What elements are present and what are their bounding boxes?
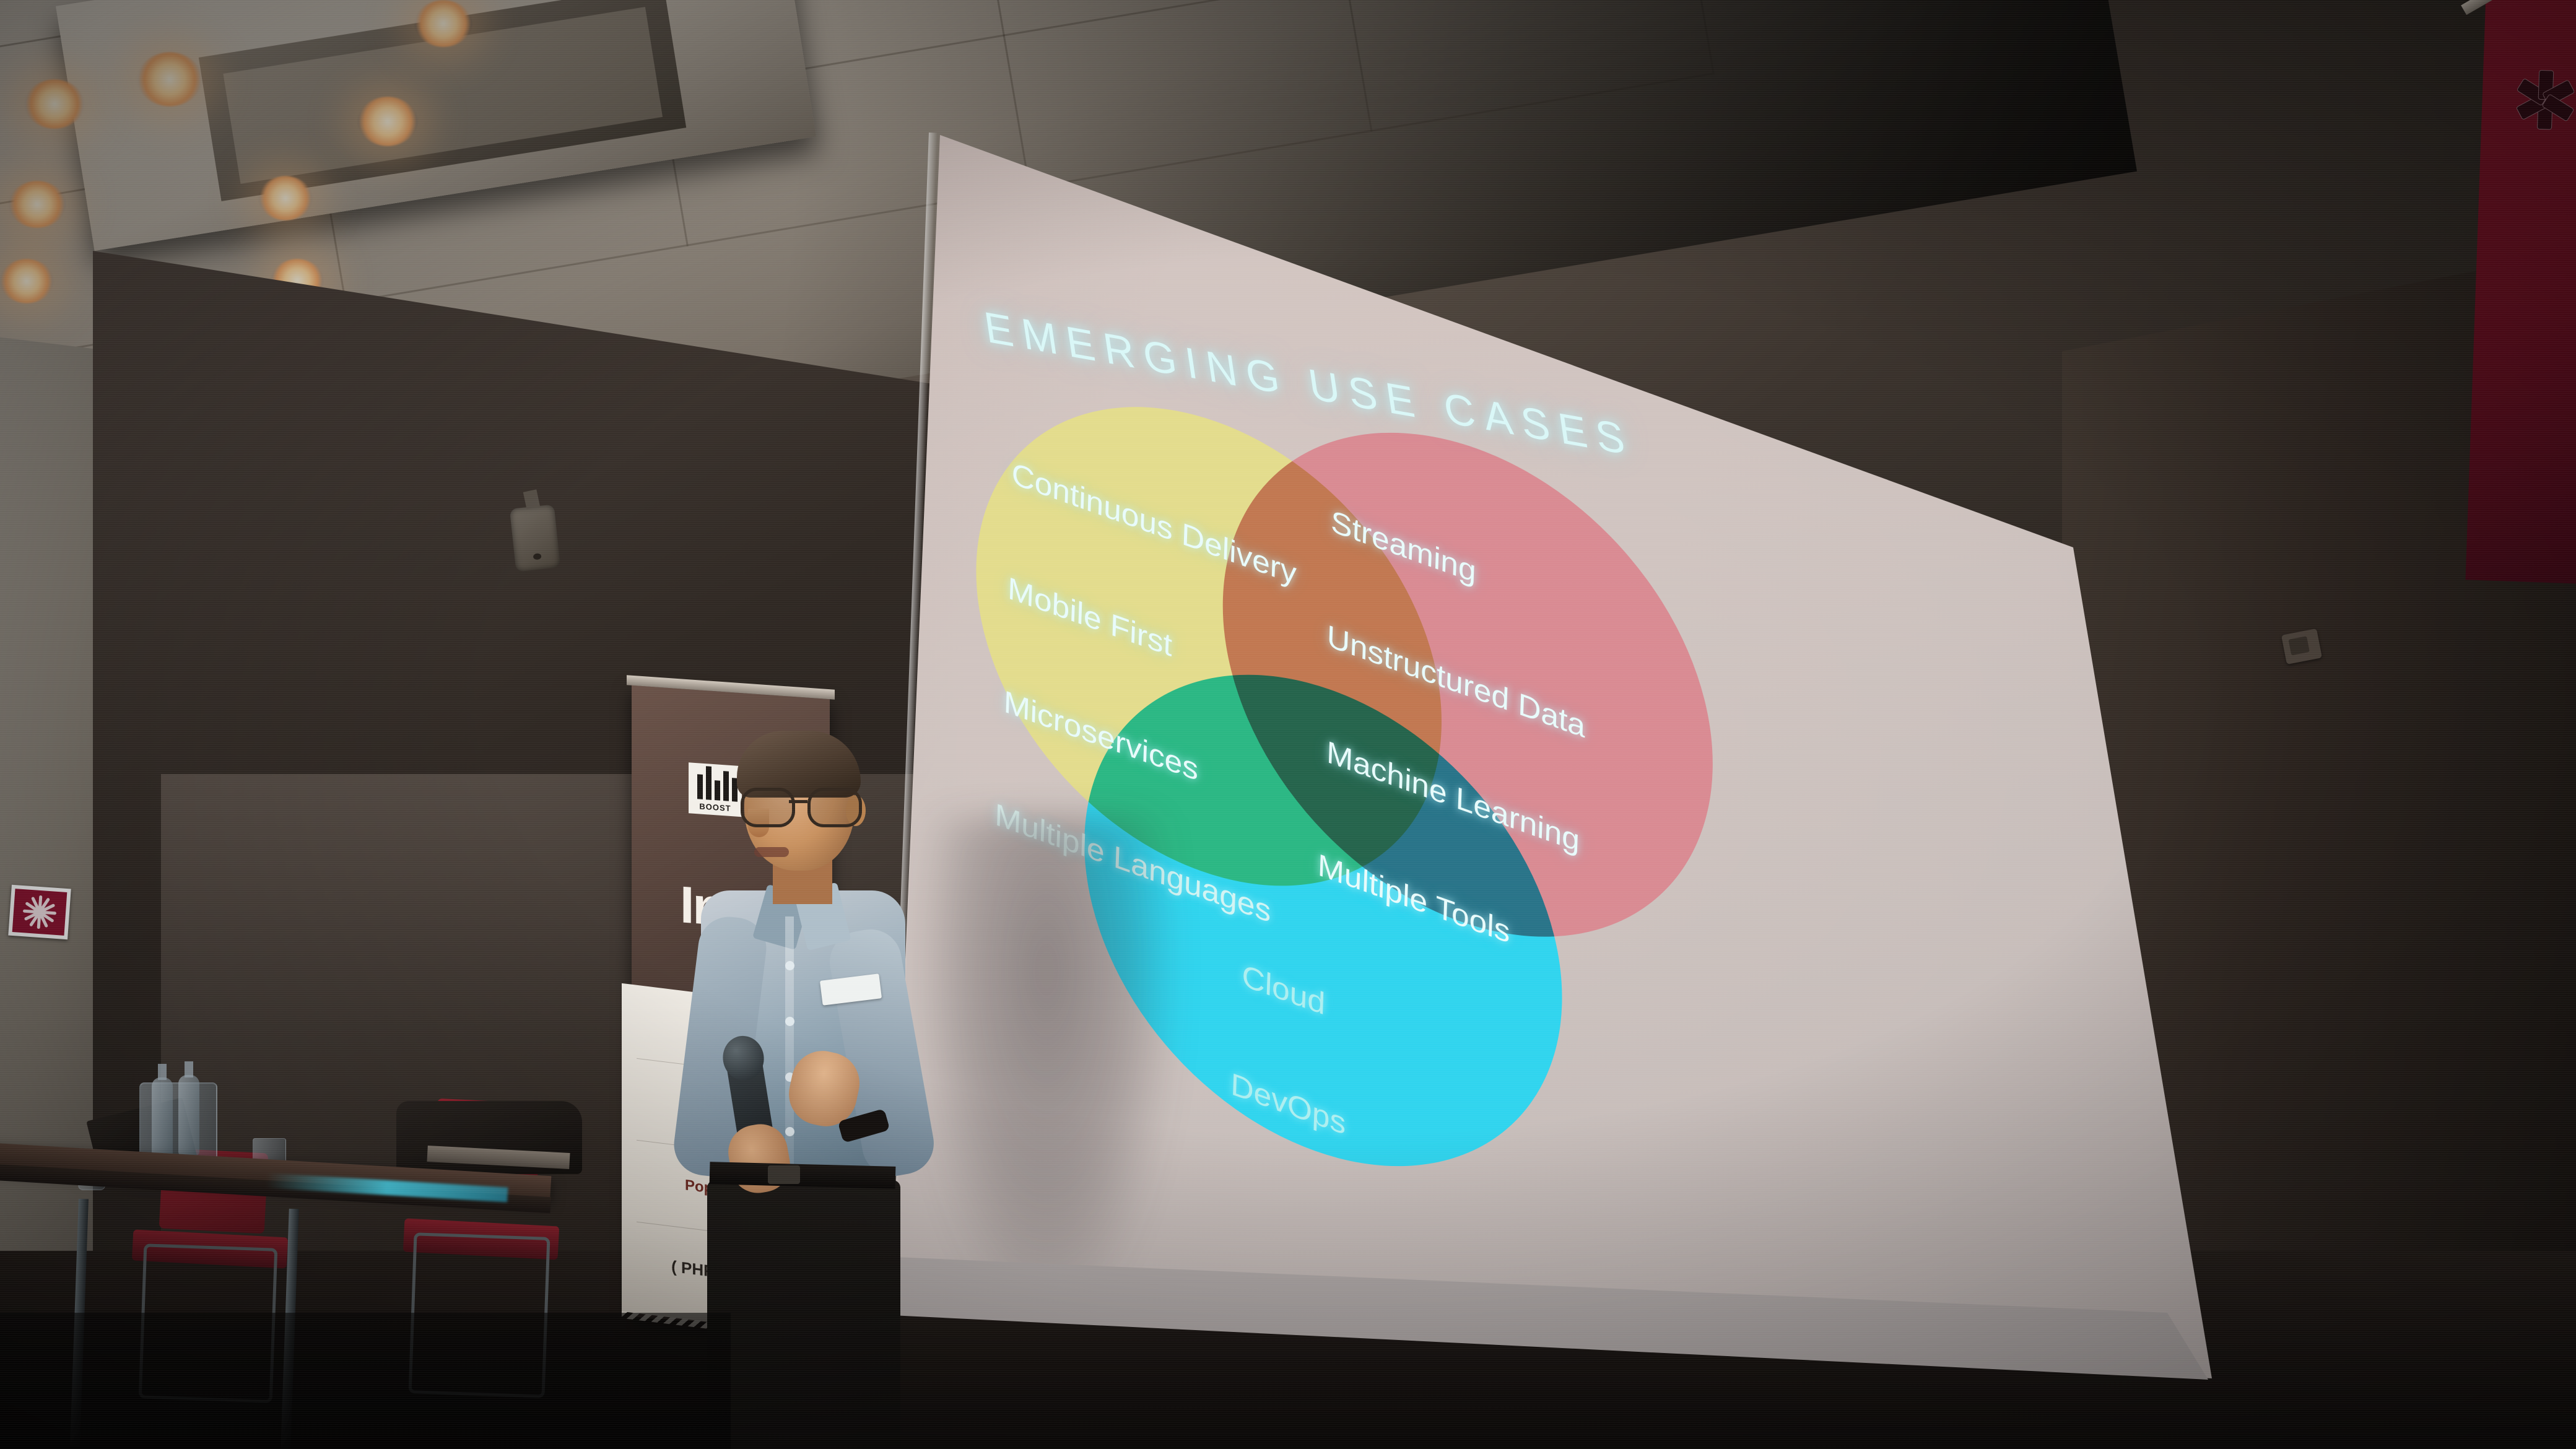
red-rollup-banner: i w t [2465, 0, 2576, 584]
downlight [259, 176, 312, 220]
presenter-mouth [754, 847, 789, 857]
glasses-icon [741, 788, 859, 821]
ceiling-speaker-icon [510, 505, 560, 572]
belt-buckle [768, 1165, 800, 1184]
venue-logo-sign [8, 885, 71, 939]
presenter-shadow [916, 817, 1177, 1325]
water-bottle [178, 1075, 199, 1155]
downlight [9, 181, 66, 228]
foreground-shadow [0, 1313, 731, 1449]
downlight [137, 52, 202, 107]
conference-photo: EMERGING USE CASES Continuous Delivery M… [0, 0, 2576, 1449]
asterisk-icon [2523, 86, 2576, 144]
downlight [358, 97, 417, 146]
downlight [0, 259, 53, 303]
water-bottle [152, 1077, 173, 1158]
downlight [415, 0, 472, 47]
downlight [25, 79, 84, 129]
presenter-legs [707, 1180, 900, 1449]
